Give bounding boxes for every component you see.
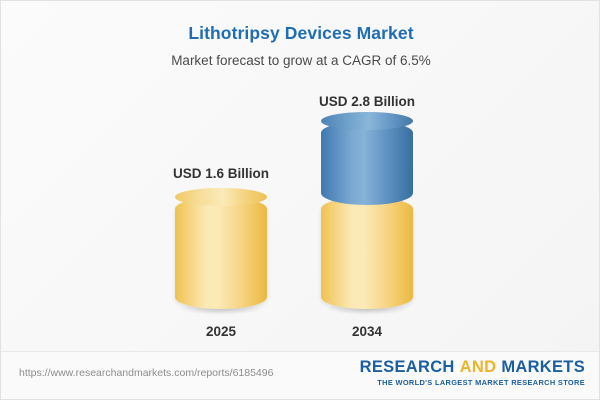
chart-card: Lithotripsy Devices Market Market foreca… [0, 0, 600, 400]
cylinder-body [321, 197, 413, 309]
logo-word-markets: MARKETS [501, 358, 585, 376]
cylinder-body [321, 121, 413, 205]
logo-wordmark: RESEARCHANDMARKETS [360, 359, 585, 376]
bar-value-label-2034: USD 2.8 Billion [267, 94, 467, 109]
cylinder-top-ellipse [321, 112, 413, 130]
cylinder-body [175, 197, 267, 309]
logo-word-research: RESEARCH [360, 358, 455, 376]
cylinder-top-ellipse [175, 188, 267, 206]
bar-2025[interactable] [175, 197, 267, 309]
bar-segment-growth-2034[interactable] [321, 121, 413, 205]
bar-segment-base-2034[interactable] [321, 197, 413, 309]
footer: https://www.researchandmarkets.com/repor… [1, 351, 600, 399]
logo-word-and: AND [460, 358, 497, 376]
bar-segment-base-2025[interactable] [175, 197, 267, 309]
brand-logo[interactable]: RESEARCHANDMARKETS THE WORLD'S LARGEST M… [360, 359, 585, 387]
category-label-2025: 2025 [175, 324, 267, 339]
bar-value-label-2025: USD 1.6 Billion [121, 166, 321, 181]
logo-tagline: THE WORLD'S LARGEST MARKET RESEARCH STOR… [360, 378, 585, 387]
report-url[interactable]: https://www.researchandmarkets.com/repor… [19, 367, 273, 379]
category-label-2034: 2034 [321, 324, 413, 339]
bar-2034[interactable] [321, 121, 413, 309]
plot-area: USD 1.6 Billion 2025 USD 2.8 Billion [1, 1, 600, 353]
